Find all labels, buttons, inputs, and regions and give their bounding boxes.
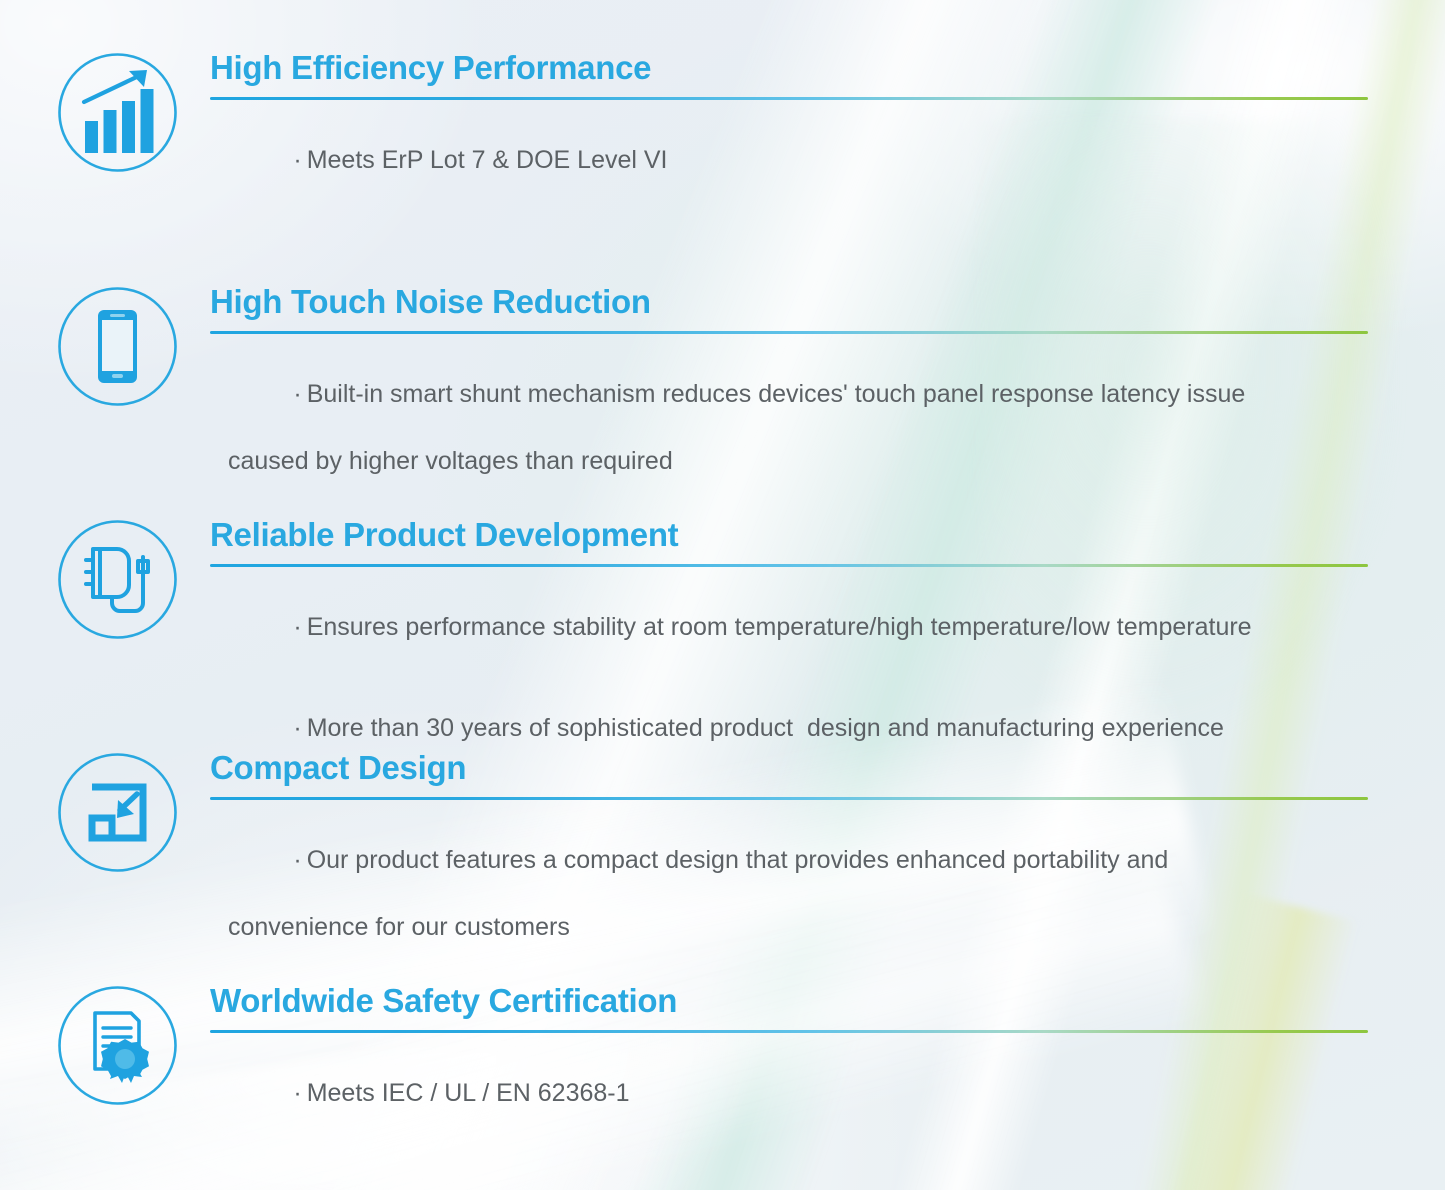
feature-body: High Touch Noise Reduction ·Built-in sma… xyxy=(210,284,1370,546)
bar-chart-growth-icon xyxy=(55,50,180,175)
bullet-text: Built-in smart shunt mechanism reduces d… xyxy=(307,380,1246,408)
bullet-text: Meets IEC / UL / EN 62368-1 xyxy=(307,1079,630,1107)
feature-list: High Efficiency Performance ·Meets ErP L… xyxy=(0,0,1445,1190)
feature-bullet-line: ·Ensures performance stability at room t… xyxy=(210,578,1370,679)
feature-body: Compact Design ·Our product features a c… xyxy=(210,750,1370,1012)
feature-divider xyxy=(210,564,1368,567)
feature-divider xyxy=(210,97,1368,100)
compact-resize-icon xyxy=(55,750,180,875)
bullet-text: More than 30 years of sophisticated prod… xyxy=(307,714,1224,742)
feature-title: Reliable Product Development xyxy=(210,517,1370,554)
bullet-text-continued: convenience for our customers xyxy=(210,911,1370,945)
feature-bullets: ·Meets IEC / UL / EN 62368-1 xyxy=(210,1044,1370,1145)
bullet-text: Meets ErP Lot 7 & DOE Level VI xyxy=(307,146,668,174)
bullet-text: Our product features a compact design th… xyxy=(307,846,1169,874)
feature-title: High Efficiency Performance xyxy=(210,50,1370,87)
feature-divider xyxy=(210,331,1368,334)
feature-body: High Efficiency Performance ·Meets ErP L… xyxy=(210,50,1370,211)
feature-bullet-line: ·Meets ErP Lot 7 & DOE Level VI xyxy=(210,111,1370,212)
feature-divider xyxy=(210,797,1368,800)
feature-body: Reliable Product Development ·Ensures pe… xyxy=(210,517,1370,779)
feature-body: Worldwide Safety Certification ·Meets IE… xyxy=(210,983,1370,1144)
smartphone-icon xyxy=(55,284,180,409)
feature-bullet-line: ·Meets IEC / UL / EN 62368-1 xyxy=(210,1044,1370,1145)
bullet-marker: · xyxy=(293,1079,301,1107)
feature-title: Compact Design xyxy=(210,750,1370,787)
feature-divider xyxy=(210,1030,1368,1033)
feature-highlights-page: High Efficiency Performance ·Meets ErP L… xyxy=(0,0,1445,1190)
bullet-marker: · xyxy=(293,613,301,641)
bullet-marker: · xyxy=(293,146,301,174)
bullet-text-continued: caused by higher voltages than required xyxy=(210,445,1370,479)
bullet-marker: · xyxy=(293,846,301,874)
feature-title: Worldwide Safety Certification xyxy=(210,983,1370,1020)
feature-bullets: ·Meets ErP Lot 7 & DOE Level VI xyxy=(210,111,1370,212)
power-adapter-icon xyxy=(55,517,180,642)
feature-title: High Touch Noise Reduction xyxy=(210,284,1370,321)
bullet-marker: · xyxy=(293,380,301,408)
bullet-marker: · xyxy=(293,714,301,742)
certificate-seal-icon xyxy=(55,983,180,1108)
bullet-text: Ensures performance stability at room te… xyxy=(307,613,1252,641)
